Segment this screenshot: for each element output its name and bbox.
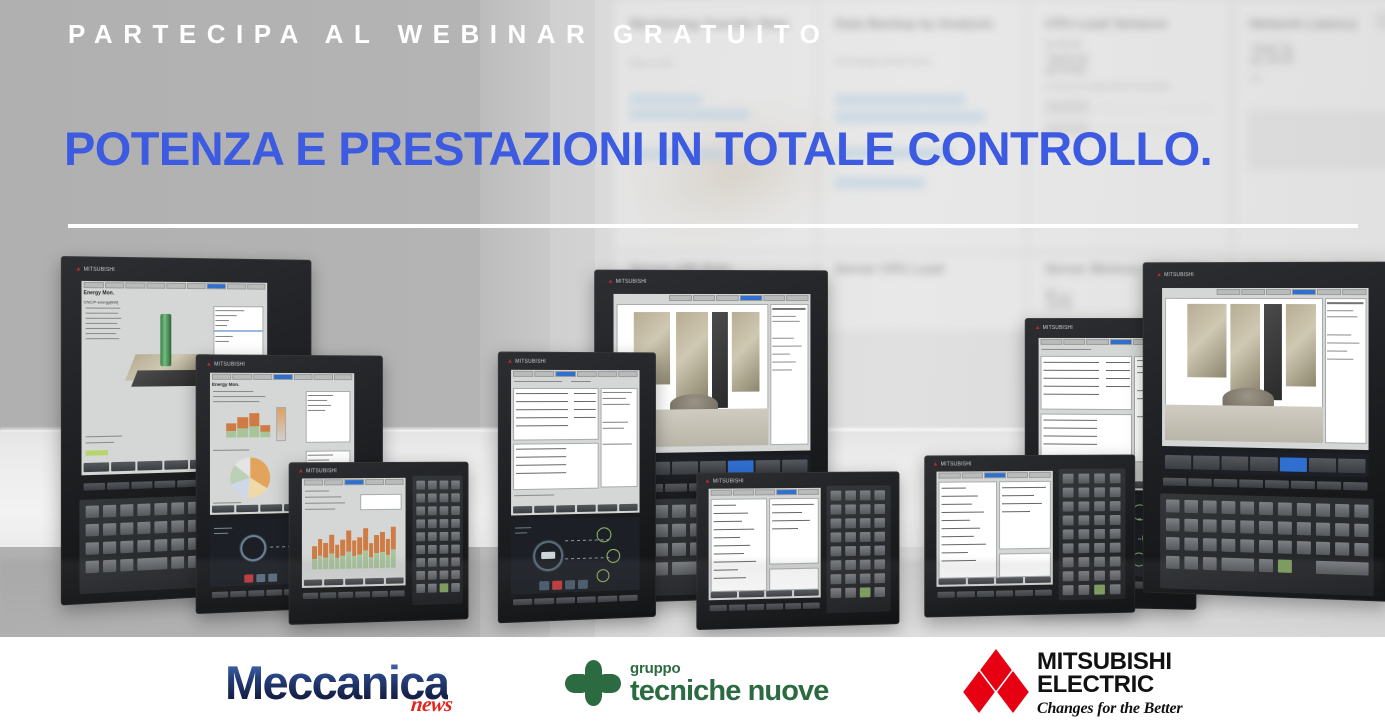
cnc-screen-ladder	[936, 471, 1052, 587]
footer-logo-bar: Meccanica news gruppo tecniche nuove MIT…	[0, 637, 1385, 727]
cnc-keypad[interactable]	[412, 475, 462, 605]
tecniche-nuove-cross-icon	[565, 660, 621, 706]
divider-rule	[68, 224, 1358, 228]
logo-meccanica-news[interactable]: Meccanica news	[225, 651, 448, 713]
cnc-panel-5: MITSUBISHI	[498, 352, 656, 624]
cnc-panel-9: MITSUBISHI	[924, 455, 1135, 618]
cnc-softkeys[interactable]	[1162, 450, 1368, 477]
cnc-keypad[interactable]	[1059, 468, 1126, 600]
cnc-keypad[interactable]	[1160, 493, 1374, 596]
dashboard-card: Network Latency 253 ms	[1235, 0, 1385, 250]
cnc-screen-dial	[511, 517, 640, 595]
mitsubishi-diamond-icon	[965, 659, 1027, 707]
cnc-screen-ladder	[709, 488, 821, 600]
tecniche-nuove-gruppo-label: gruppo	[630, 661, 829, 676]
mitsubishi-wordmark-line2: ELECTRIC	[1037, 673, 1182, 697]
page-headline: POTENZA E PRESTAZIONI IN TOTALE CONTROLL…	[64, 124, 1212, 173]
dashboard-badge	[1376, 12, 1385, 30]
cnc-panel-3: MITSUBISHI	[289, 462, 469, 625]
mitsubishi-tagline: Changes for the Better	[1037, 701, 1182, 717]
logo-gruppo-tecniche-nuove[interactable]: gruppo tecniche nuove	[565, 657, 829, 709]
cnc-screen	[302, 478, 406, 588]
mitsubishi-wordmark-line1: MITSUBISHI	[1037, 650, 1182, 674]
eyebrow-text: PARTECIPA AL WEBINAR GRATUITO	[68, 20, 830, 49]
logo-mitsubishi-electric[interactable]: MITSUBISHI ELECTRIC Changes for the Bett…	[965, 651, 1182, 715]
cnc-screen	[1162, 288, 1368, 450]
cnc-panel-6: MITSUBISHI	[696, 471, 899, 630]
tecniche-nuove-wordmark: tecniche nuove	[630, 677, 829, 706]
cnc-screen-coordinates	[511, 370, 640, 516]
webinar-banner: Monitoring Transfer Rate Data in GB Data…	[0, 0, 1385, 727]
dashboard-card: Server CPU Load	[820, 255, 1025, 330]
cnc-keypad[interactable]	[827, 485, 891, 613]
cnc-panel-8: MITSUBISHI	[1143, 262, 1385, 602]
meccanica-news-tag: news	[410, 692, 454, 717]
